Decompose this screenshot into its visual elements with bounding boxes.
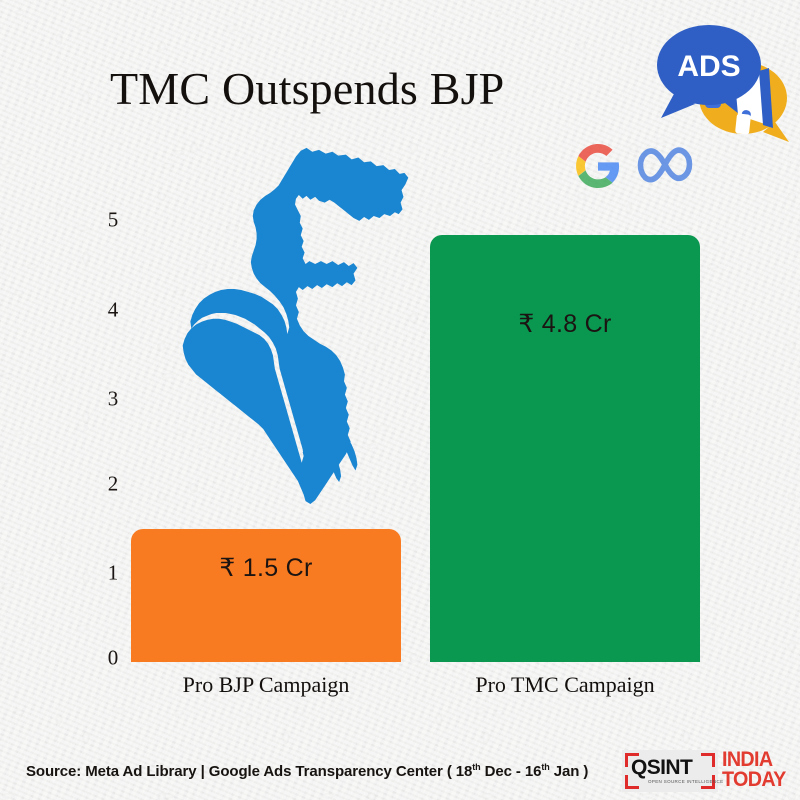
category-label-pro-tmc: Pro TMC Campaign xyxy=(430,672,700,698)
source-suffix: Jan ) xyxy=(550,763,589,780)
google-g-icon xyxy=(576,144,620,188)
bar-value-pro-bjp: ₹ 1.5 Cr xyxy=(131,553,401,583)
y-axis-tick-5: 5 xyxy=(96,208,130,233)
y-axis-tick-3: 3 xyxy=(96,387,130,412)
india-today-logo: INDIA TODAY xyxy=(722,750,786,790)
y-axis-tick-1: 1 xyxy=(96,561,130,586)
source-mid: Dec - 16 xyxy=(481,763,542,780)
meta-infinity-icon xyxy=(637,146,693,186)
bracket-top-right-icon xyxy=(701,753,715,767)
source-attribution: Source: Meta Ad Library | Google Ads Tra… xyxy=(26,762,588,780)
india-today-line-2: TODAY xyxy=(722,770,786,790)
osint-tagline: OPEN SOURCE INTELLIGENCE xyxy=(648,779,723,784)
source-ordinal-2: th xyxy=(541,762,549,772)
ads-badge-graphic: ADS xyxy=(643,18,795,150)
india-today-line-1: INDIA xyxy=(722,750,786,770)
y-axis-tick-0: 0 xyxy=(96,646,130,671)
y-axis-tick-4: 4 xyxy=(96,298,130,323)
y-axis-tick-2: 2 xyxy=(96,472,130,497)
osint-wordmark: QSINT xyxy=(631,756,692,780)
bar-pro-bjp-campaign[interactable]: ₹ 1.5 Cr xyxy=(131,529,401,662)
source-prefix: Source: Meta Ad Library | Google Ads Tra… xyxy=(26,763,472,780)
bar-pro-tmc-campaign[interactable]: ₹ 4.8 Cr xyxy=(430,235,700,662)
bar-value-pro-tmc: ₹ 4.8 Cr xyxy=(430,309,700,339)
infographic-canvas: TMC Outspends BJP 5 4 3 2 1 0 ₹ 1.5 Cr ₹… xyxy=(0,0,800,800)
source-ordinal-1: th xyxy=(472,762,480,772)
ads-badge-text: ADS xyxy=(677,50,740,83)
category-label-pro-bjp: Pro BJP Campaign xyxy=(131,672,401,698)
osint-logo: QSINT OPEN SOURCE INTELLIGENCE xyxy=(622,750,718,792)
